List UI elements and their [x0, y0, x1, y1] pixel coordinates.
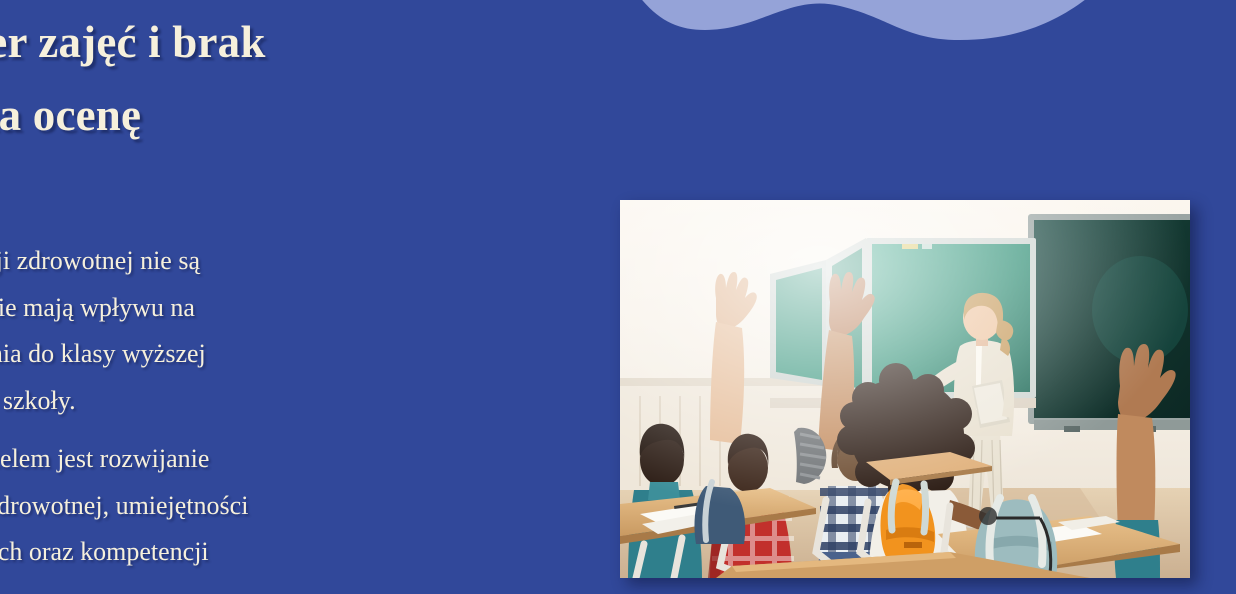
body-line-3: ocję ucznia do klasy wyższej — [0, 331, 604, 378]
slide-canvas: rakter zajęć i brak wu na ocenę a edukac… — [0, 0, 1236, 594]
headline-line-1: rakter zajęć i brak — [0, 6, 624, 79]
body-line-4: ończenie szkoły. — [0, 378, 604, 425]
wave-shape-path — [605, 0, 1136, 40]
body-paragraph: a edukacji zdrowotnej nie są ane ani nie… — [0, 238, 604, 576]
body-line-6: omości zdrowotnej, umiejętności — [0, 483, 604, 530]
body-line-5: ównym celem jest rozwijanie — [0, 436, 604, 483]
classroom-photo — [620, 200, 1190, 578]
body-line-2: ane ani nie mają wpływu na — [0, 285, 604, 332]
page-title: rakter zajęć i brak wu na ocenę — [0, 6, 624, 152]
body-line-7: aktycznych oraz kompetencji — [0, 529, 604, 576]
classroom-photo-image — [620, 200, 1190, 578]
body-line-1: a edukacji zdrowotnej nie są — [0, 238, 604, 285]
headline-line-2: wu na ocenę — [0, 79, 624, 152]
